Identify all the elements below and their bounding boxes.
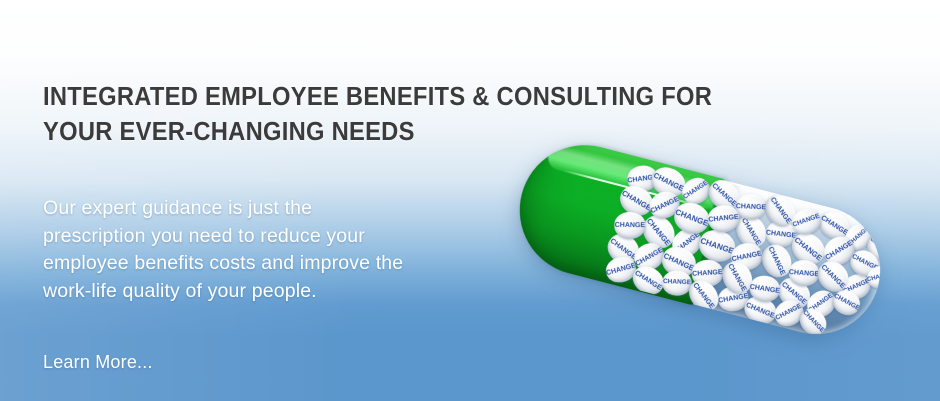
pellet-label: CHANGE [718, 293, 749, 305]
pellet-label: CHANGE [692, 269, 723, 278]
pellet-label: CHANGE [766, 229, 797, 239]
page-title: INTEGRATED EMPLOYEE BENEFITS & CONSULTIN… [43, 80, 694, 150]
pellet-label: CHANGE [833, 293, 861, 312]
pellet-label: CHANGE [620, 189, 652, 212]
pellet-label: CHANGE [793, 236, 823, 262]
pellet-label: CHANGE [740, 217, 762, 247]
pellet-label: CHANGE [683, 180, 710, 201]
pellet-label: CHANGE [789, 268, 820, 277]
capsule-clear-body: CHANGECHANGECHANGECHANGECHANGECHANGECHAN… [599, 156, 894, 348]
pellet-label: CHANGE [867, 271, 894, 283]
body-line-3: employee benefits costs and improve the [43, 250, 513, 278]
pellet-label: CHANGE [745, 301, 776, 319]
headline-line-1: INTEGRATED EMPLOYEE BENEFITS & CONSULTIN… [43, 80, 694, 115]
learn-more-link[interactable]: Learn More... [43, 352, 153, 373]
headline-line-2: YOUR EVER-CHANGING NEEDS [43, 115, 694, 150]
change-pellet: CHANGE [735, 193, 766, 220]
pellet-label: CHANGE [634, 246, 664, 267]
body-line-4: work-life quality of your people. [43, 278, 513, 306]
pellet-label: CHANGE [767, 246, 786, 276]
pellet-label: CHANGE [674, 208, 709, 228]
pellet-label: CHANGE [662, 252, 695, 272]
pellet-label: CHANGE [634, 269, 663, 291]
pellet-label: CHANGE [727, 263, 748, 293]
hero-banner: INTEGRATED EMPLOYEE BENEFITS & CONSULTIN… [0, 0, 940, 401]
pellet-label: CHANGE [769, 196, 792, 225]
pellet-label: CHANGE [708, 214, 739, 224]
capsule-graphic: CHANGECHANGECHANGECHANGECHANGECHANGECHAN… [506, 132, 894, 348]
pellet-label: CHANGE [792, 214, 821, 230]
change-pellet: CHANGE [614, 212, 645, 239]
capsule-illustration: CHANGECHANGECHANGECHANGECHANGECHANGECHAN… [508, 138, 908, 368]
pellet-label: CHANGE [824, 240, 854, 262]
pellet-label: CHANGE [692, 282, 716, 310]
pellet-label: CHANGE [820, 263, 847, 289]
hero-description: Our expert guidance is just the prescrip… [43, 195, 513, 305]
pellet-label: CHANGE [663, 279, 691, 287]
pellet-label: CHANGE [615, 222, 645, 229]
pellet-label: CHANGE [736, 203, 767, 211]
pellet-label: CHANGE [749, 283, 780, 294]
pellet-label: CHANGE [801, 309, 825, 334]
body-line-2: prescription you need to reduce your [43, 223, 513, 251]
pellet-label: CHANGE [820, 214, 849, 236]
change-pellets-group: CHANGECHANGECHANGECHANGECHANGECHANGECHAN… [599, 156, 894, 348]
pellet-label: CHANGE [710, 182, 737, 208]
pellet-label: CHANGE [652, 172, 684, 193]
pellet-label: CHANGE [699, 237, 734, 256]
body-line-1: Our expert guidance is just the [43, 195, 513, 223]
